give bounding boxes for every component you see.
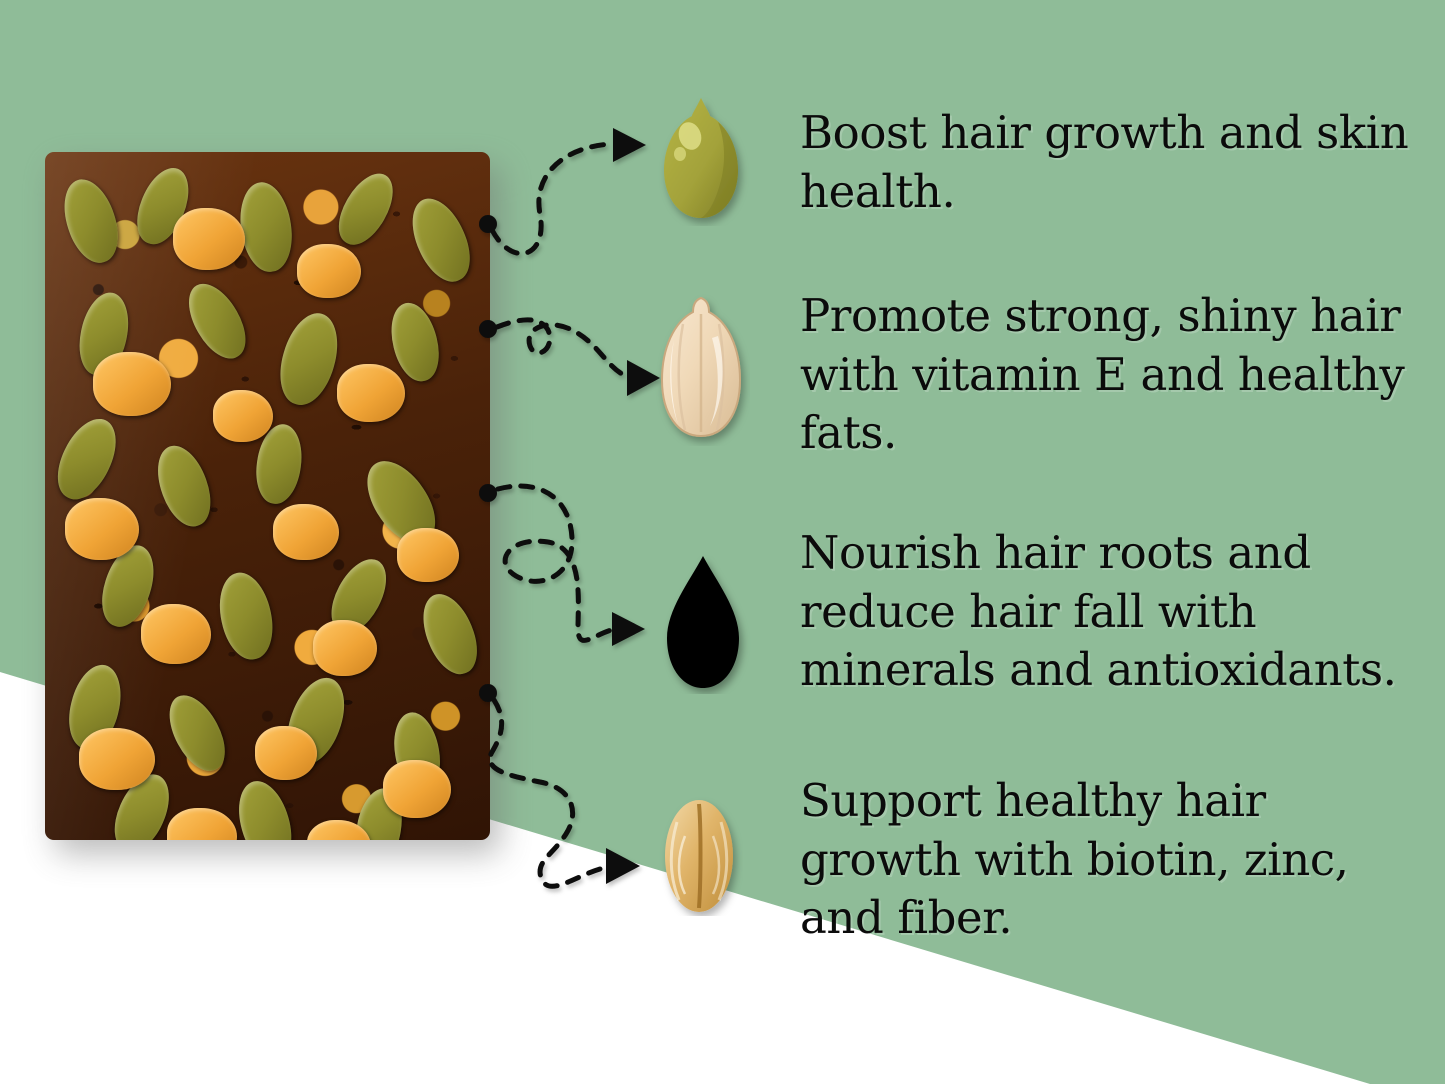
oat-grain-icon [655,796,743,916]
benefit-text-black-sesame-seed: Nourish hair roots and reduce hair fall … [800,524,1400,700]
benefit-text-oat-grain: Support healthy hair growth with biotin,… [800,772,1410,948]
granola-bar [45,152,490,840]
benefit-text-sunflower-seed: Promote strong, shiny hair with vitamin … [800,287,1445,463]
pumpkin-seed-icon [652,94,750,226]
sunflower-seed-icon [652,294,750,446]
benefit-text-pumpkin-seed: Boost hair growth and skin health. [800,104,1440,221]
black-seed-icon [655,552,751,694]
infographic-poster: Boost hair growth and skin health. Promo… [0,0,1445,1084]
product-image [45,152,490,840]
